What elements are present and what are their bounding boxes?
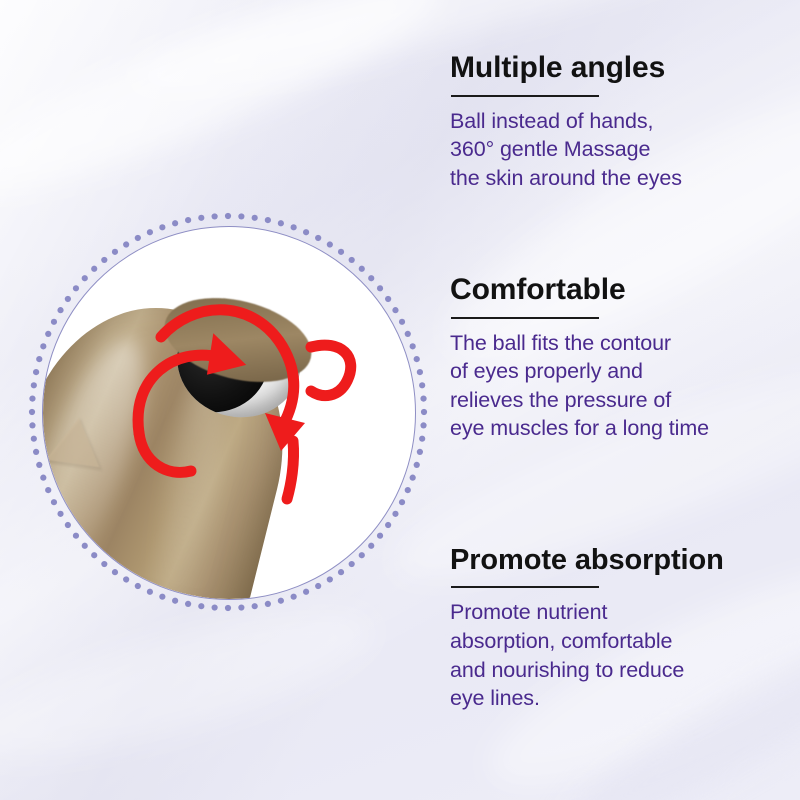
background-streak (0, 584, 384, 786)
product-photo-disc (42, 226, 416, 600)
feature-divider (451, 95, 599, 97)
feature-divider (451, 317, 599, 319)
feature-body: Ball instead of hands, 360° gentle Massa… (450, 107, 790, 193)
feature-block: Multiple angles Ball instead of hands, 3… (450, 52, 790, 192)
product-image-circle (28, 212, 428, 612)
feature-title: Promote absorption (450, 545, 790, 575)
feature-divider (451, 586, 599, 588)
feature-title: Multiple angles (450, 52, 790, 84)
feature-body: The ball fits the contour of eyes proper… (450, 329, 790, 443)
product-feature-banner: Multiple angles Ball instead of hands, 3… (0, 0, 800, 800)
feature-block: Promote absorption Promote nutrient abso… (450, 545, 790, 713)
product-photo (43, 227, 415, 599)
feature-block: Comfortable The ball fits the contour of… (450, 274, 790, 443)
device-triangle-emboss (46, 414, 106, 467)
feature-title: Comfortable (450, 274, 790, 306)
background-streak (0, 0, 458, 224)
feature-body: Promote nutrient absorption, comfortable… (450, 598, 790, 712)
